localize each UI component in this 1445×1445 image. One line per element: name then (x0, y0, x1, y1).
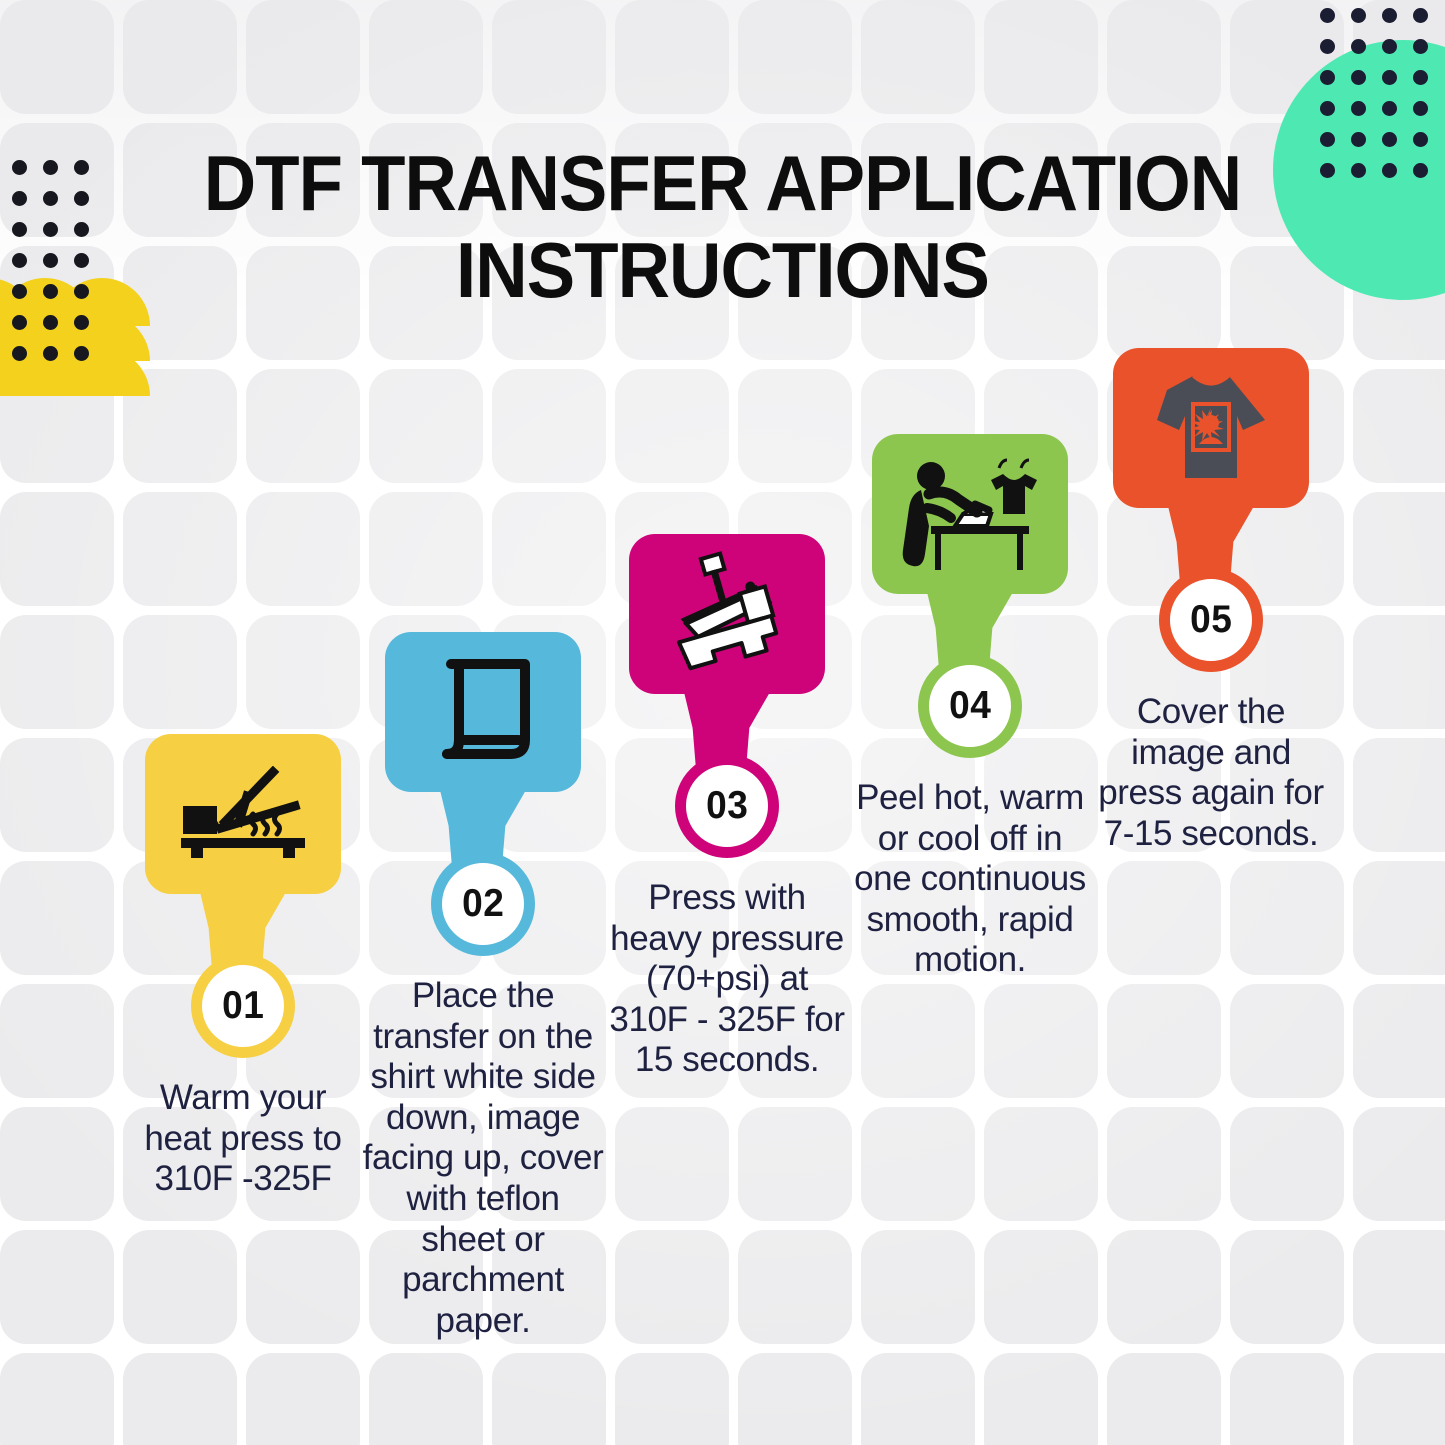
step-number-label: 01 (222, 984, 264, 1028)
step-item-03: 03 Press with heavy pressure (70+psi) at… (602, 534, 852, 1081)
step-card-01[interactable] (145, 734, 341, 894)
step-card-02[interactable] (385, 632, 581, 792)
infographic-canvas: DTF TRANSFER APPLICATION INSTRUCTIONS (0, 0, 1445, 1445)
step-number-badge-02[interactable]: 02 (431, 852, 535, 956)
heat-press-icon (177, 766, 309, 862)
heat-press-machine-icon (659, 550, 795, 678)
step-number-label: 03 (706, 784, 748, 828)
transfer-sheet-icon (425, 654, 541, 770)
step-item-01: 01 Warm your heat press to 310F -325F (118, 734, 368, 1200)
step-number-badge-05[interactable]: 05 (1159, 568, 1263, 672)
step-number-label: 04 (949, 684, 991, 728)
step-number-badge-04[interactable]: 04 (918, 654, 1022, 758)
step-card-03[interactable] (629, 534, 825, 694)
step-number-label: 05 (1190, 598, 1232, 642)
step-item-02: 02 Place the transfer on the shirt white… (358, 632, 608, 1341)
step-card-05[interactable] (1113, 348, 1309, 508)
peeling-transfer-icon (895, 448, 1045, 580)
printed-tshirt-icon (1147, 368, 1275, 488)
step-caption-04: Peel hot, warm or cool off in one contin… (845, 778, 1095, 981)
step-number-badge-01[interactable]: 01 (191, 954, 295, 1058)
step-number-label: 02 (462, 882, 504, 926)
step-item-04: 04 Peel hot, warm or cool off in one con… (845, 434, 1095, 981)
step-caption-02: Place the transfer on the shirt white si… (358, 976, 608, 1341)
step-item-05: 05 Cover the image and press again for 7… (1086, 348, 1336, 854)
step-caption-01: Warm your heat press to 310F -325F (118, 1078, 368, 1200)
step-caption-03: Press with heavy pressure (70+psi) at 31… (602, 878, 852, 1081)
step-number-badge-03[interactable]: 03 (675, 754, 779, 858)
step-caption-05: Cover the image and press again for 7-15… (1086, 692, 1336, 854)
page-title: DTF TRANSFER APPLICATION INSTRUCTIONS (51, 140, 1395, 315)
step-card-04[interactable] (872, 434, 1068, 594)
